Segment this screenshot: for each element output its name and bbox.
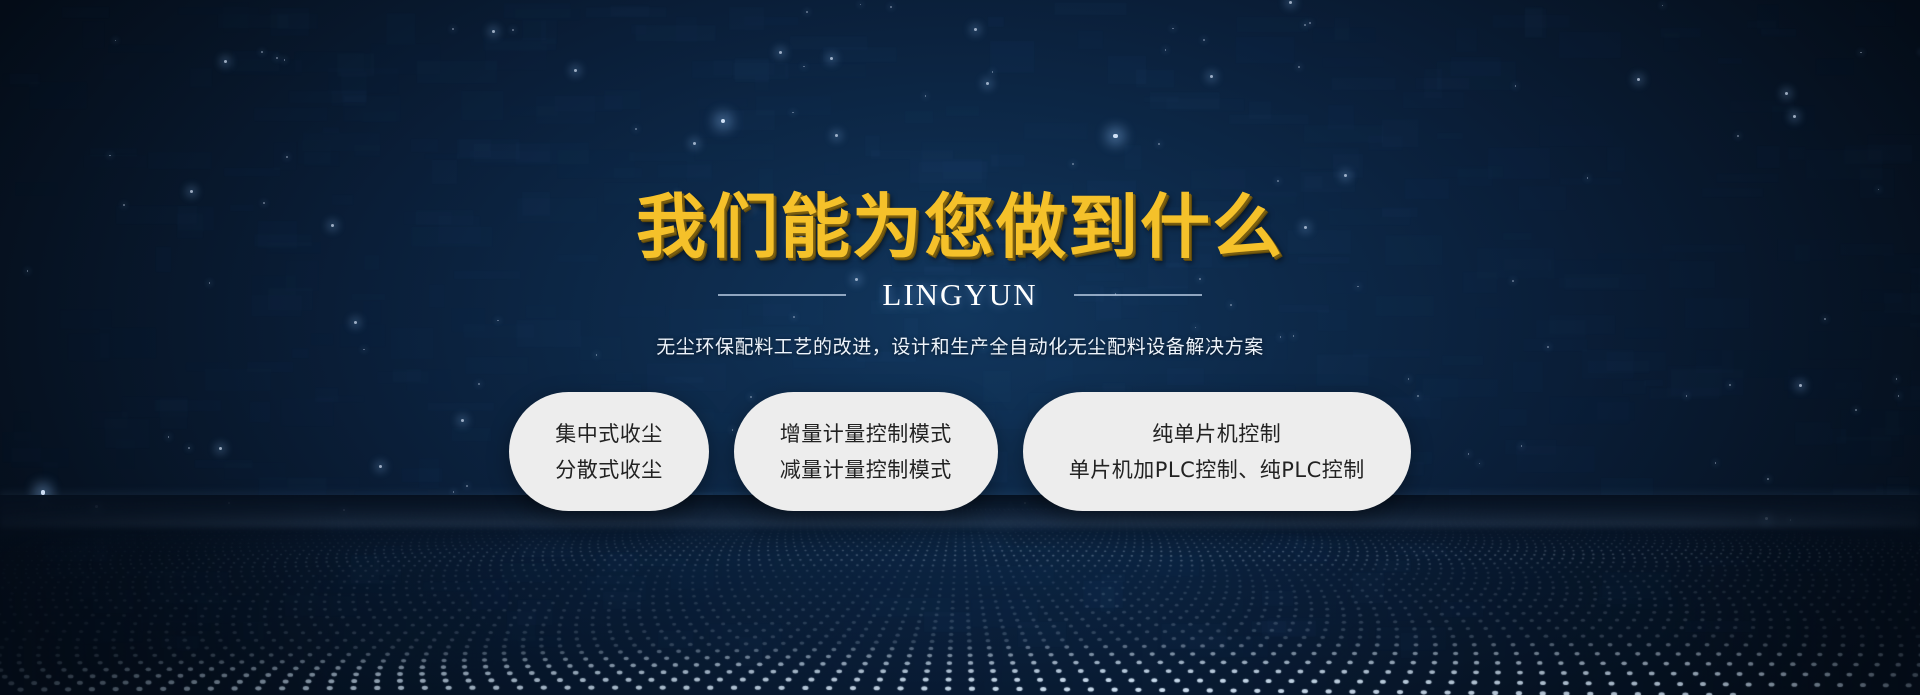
star-particle bbox=[1790, 519, 1792, 521]
feature-card-line-2: 分散式收尘 bbox=[555, 458, 663, 482]
feature-card-line-1: 集中式收尘 bbox=[555, 422, 663, 446]
feature-card-line-2: 减量计量控制模式 bbox=[780, 458, 952, 482]
feature-card-list: 集中式收尘 分散式收尘 增量计量控制模式 减量计量控制模式 纯单片机控制 单片机… bbox=[0, 392, 1920, 511]
feature-card[interactable]: 增量计量控制模式 减量计量控制模式 bbox=[734, 392, 998, 511]
page-title: 我们能为您做到什么 bbox=[0, 190, 1920, 264]
star-particle bbox=[1765, 517, 1768, 520]
tagline: 无尘环保配料工艺的改进，设计和生产全自动化无尘配料设备解决方案 bbox=[0, 334, 1920, 360]
subtitle-row: LINGYUN bbox=[0, 278, 1920, 312]
feature-card[interactable]: 纯单片机控制 单片机加PLC控制、纯PLC控制 bbox=[1023, 392, 1411, 511]
feature-card[interactable]: 集中式收尘 分散式收尘 bbox=[509, 392, 709, 511]
divider-line-right bbox=[1074, 294, 1202, 296]
banner-content: 我们能为您做到什么 LINGYUN 无尘环保配料工艺的改进，设计和生产全自动化无… bbox=[0, 0, 1920, 511]
divider-line-left bbox=[718, 294, 846, 296]
feature-card-line-1: 纯单片机控制 bbox=[1152, 422, 1281, 446]
hero-banner: 我们能为您做到什么 LINGYUN 无尘环保配料工艺的改进，设计和生产全自动化无… bbox=[0, 0, 1920, 695]
feature-card-line-2: 单片机加PLC控制、纯PLC控制 bbox=[1069, 458, 1365, 482]
feature-card-line-1: 增量计量控制模式 bbox=[780, 422, 952, 446]
brand-subtitle: LINGYUN bbox=[882, 278, 1037, 312]
particle-mesh-wave bbox=[0, 495, 1920, 695]
